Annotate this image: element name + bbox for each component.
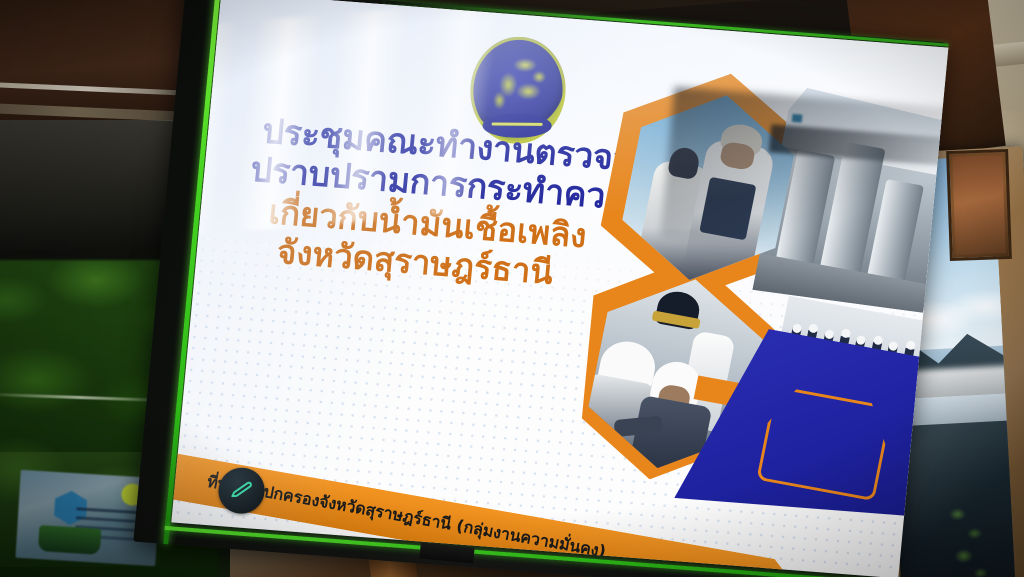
wall-small-picture [946, 149, 1012, 261]
tv-screen[interactable]: ประชุมคณะทำงานตรวจสอบและ ปราบปรามการกระท… [171, 0, 948, 577]
poster-plant-graphic [38, 525, 101, 555]
photo-scene: ประชุมคณะทำงานตรวจสอบและ ปราบปรามการกระท… [0, 0, 1024, 577]
wall-small-picture-canvas [952, 155, 1005, 255]
slide-photo-collage [575, 22, 948, 515]
wall-mounted-television[interactable]: ประชุมคณะทำงานตรวจสอบและ ปราบปรามการกระท… [133, 0, 946, 577]
seal-lion-figure [485, 52, 551, 119]
